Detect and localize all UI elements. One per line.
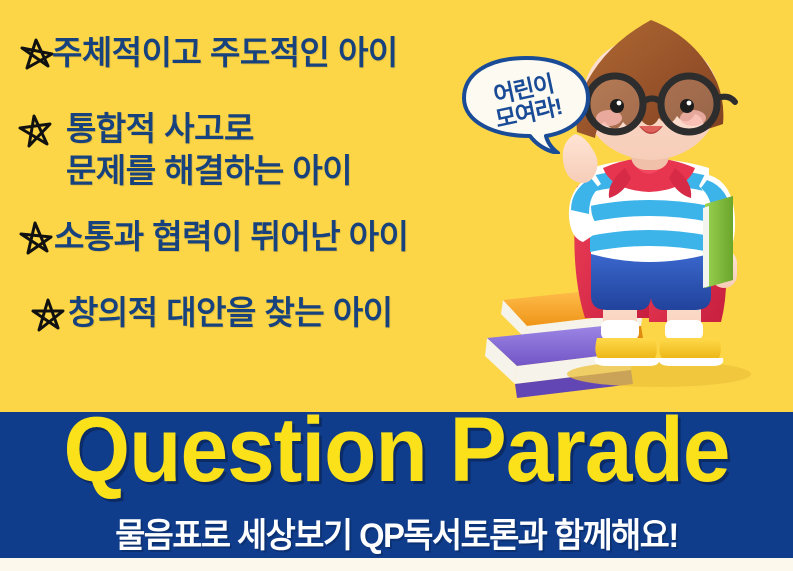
speech-bubble-shape <box>464 58 588 153</box>
bullet-text-2: 통합적 사고로 문제를 해결하는 아이 <box>66 108 352 192</box>
right-sock <box>665 320 703 340</box>
bullet-item-3: 소통과 협력이 뛰어난 아이 <box>14 216 408 262</box>
speech-bubble: 어린이 모여라! <box>460 56 592 154</box>
star-icon <box>26 294 70 338</box>
bullet-item-2: 통합적 사고로 문제를 해결하는 아이 <box>14 108 352 192</box>
star-icon <box>14 218 58 262</box>
right-shoe-sole <box>659 358 724 366</box>
left-sock <box>601 320 639 340</box>
bullet-text-4: 창의적 대안을 찾는 아이 <box>68 292 393 334</box>
bullet-text-3: 소통과 협력이 뛰어난 아이 <box>54 216 408 258</box>
poster-subtitle: 물음표로 세상보기 QP독서토론과 함께해요! <box>16 508 777 557</box>
held-book <box>705 196 733 288</box>
bullet-text-1: 주체적이고 주도적인 아이 <box>52 32 398 74</box>
bottom-strip <box>0 558 793 571</box>
held-book-pages <box>703 206 709 288</box>
ground-shadow <box>567 361 751 387</box>
eye-left <box>610 99 624 113</box>
poster-root: 주체적이고 주도적인 아이 통합적 사고로 문제를 해결하는 아이 소통과 협력… <box>0 0 793 571</box>
poster-main-title: Question Parade <box>28 404 765 496</box>
bullet-item-1: 주체적이고 주도적인 아이 <box>14 32 398 78</box>
bullet-item-4: 창의적 대안을 찾는 아이 <box>26 292 393 338</box>
left-shoe-sole <box>595 358 660 366</box>
eye-right <box>680 99 694 113</box>
star-icon <box>14 110 58 154</box>
